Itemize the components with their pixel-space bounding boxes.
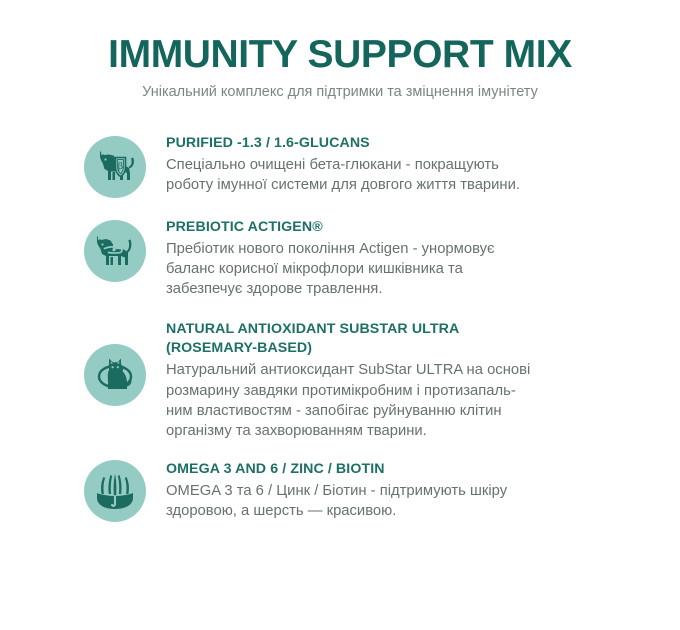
feature-body: NATURAL ANTIOXIDANT SUBSTAR ULTRA (ROSEM…: [166, 318, 640, 442]
feature-item-purified-glucans: β PURIFIED -1.3 / 1.6-GLUCANS Спеціально…: [40, 132, 640, 198]
cat-digestive-tract-icon: [84, 220, 146, 282]
sitting-cat-orbit-icon: [84, 344, 146, 406]
feature-item-prebiotic-actigen: PREBIOTIC ACTIGEN® Пребіотик нового поко…: [40, 216, 640, 300]
feature-description: Пребіотик нового покоління Actigen - уно…: [166, 239, 640, 300]
feature-list: β PURIFIED -1.3 / 1.6-GLUCANS Спеціально…: [40, 132, 640, 522]
page-subtitle: Унікальний комплекс для підтримки та змі…: [40, 84, 640, 101]
feature-description: Натуральний антиоксидант SubStar ULTRA н…: [166, 360, 640, 442]
cat-with-shield-beta-icon: β: [84, 136, 146, 198]
feature-item-natural-antioxidant: NATURAL ANTIOXIDANT SUBSTAR ULTRA (ROSEM…: [40, 318, 640, 442]
feature-description: Спеціально очищені бета-глюкани - покращ…: [166, 155, 640, 196]
svg-text:β: β: [118, 162, 123, 172]
page-title: IMMUNITY SUPPORT MIX: [40, 34, 640, 76]
feature-description: OMEGA 3 та 6 / Цинк / Біотин - підтримую…: [166, 481, 640, 522]
feature-title: OMEGA 3 AND 6 / ZINC / BIOTIN: [166, 460, 640, 479]
feature-title: PREBIOTIC ACTIGEN®: [166, 218, 640, 237]
feature-body: PREBIOTIC ACTIGEN® Пребіотик нового поко…: [166, 216, 640, 300]
feature-title: NATURAL ANTIOXIDANT SUBSTAR ULTRA (ROSEM…: [166, 320, 640, 358]
header: IMMUNITY SUPPORT MIX Унікальний комплекс…: [40, 34, 640, 102]
hair-follicles-skin-icon: [84, 460, 146, 522]
feature-item-omega-zinc-biotin: OMEGA 3 AND 6 / ZINC / BIOTIN OMEGA 3 та…: [40, 458, 640, 522]
feature-body: OMEGA 3 AND 6 / ZINC / BIOTIN OMEGA 3 та…: [166, 458, 640, 522]
feature-title: PURIFIED -1.3 / 1.6-GLUCANS: [166, 134, 640, 153]
product-benefits-panel: IMMUNITY SUPPORT MIX Унікальний комплекс…: [0, 0, 680, 630]
feature-body: PURIFIED -1.3 / 1.6-GLUCANS Спеціально о…: [166, 132, 640, 196]
